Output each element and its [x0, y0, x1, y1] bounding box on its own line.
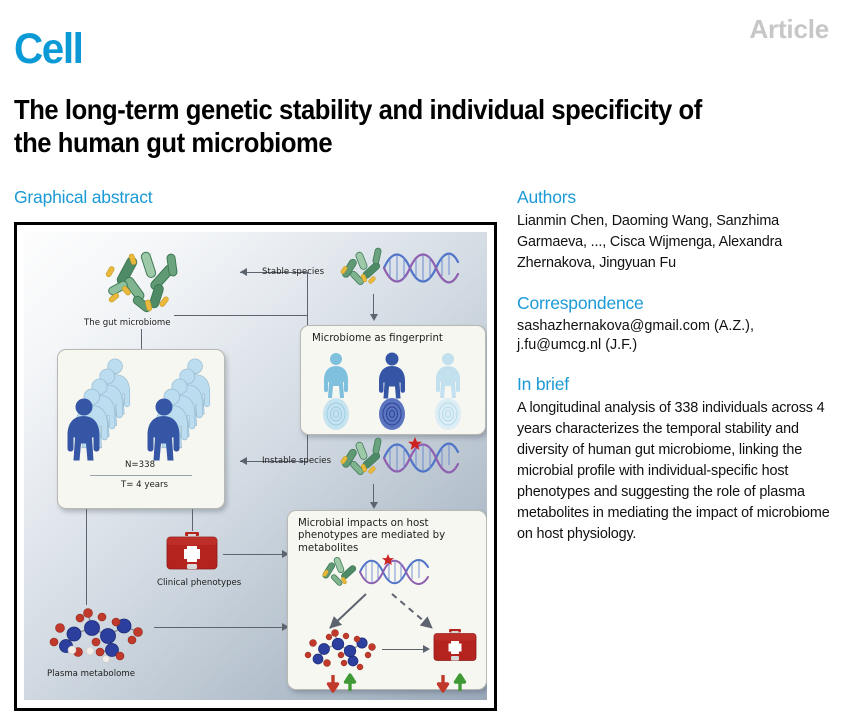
authors-list: Lianmin Chen, Daoming Wang, Sanzhima Gar… [517, 211, 839, 274]
phenotype-change-arrows [434, 674, 474, 698]
connector-instable-to-mediation [373, 484, 374, 504]
fingerprint-light-2 [435, 398, 461, 430]
connector-stable-to-fingerprint [373, 294, 374, 316]
person-light-1 [324, 353, 348, 398]
connector-cohort-down-left [86, 509, 87, 605]
connector-metabolome-to-mediation [154, 627, 285, 628]
plasma-metabolome-molecule-icon [44, 604, 156, 666]
gut-microbiome-label: The gut microbiome [84, 318, 171, 328]
connector-phenotypes-to-mediation [223, 554, 285, 555]
connector-microbiome-to-cohort [141, 329, 142, 349]
plasma-metabolome-label: Plasma metabolome [47, 669, 135, 679]
fingerprints-group [314, 396, 474, 432]
graphical-abstract-heading: Graphical abstract [14, 187, 152, 208]
correspondence-email-2: j.fu@umcg.nl (J.F.) [517, 336, 839, 355]
connector-microbiome-right [174, 315, 308, 316]
correspondence-email-1: sashazhernakova@gmail.com (A.Z.), [517, 317, 839, 336]
mediation-medkit-icon [432, 628, 478, 668]
cohort-group-right [148, 359, 210, 461]
fingerprint-card-title: Microbiome as fingerprint [312, 333, 482, 345]
arrow-to-instable-icon [240, 457, 247, 465]
stable-species-bacteria-dna-icon [340, 242, 460, 294]
article-type-label: Article [749, 14, 829, 45]
cohort-size-label: N=338 [125, 460, 155, 470]
connector-molecule-to-medkit [382, 649, 426, 650]
metabolite-change-arrows [324, 674, 364, 698]
fingerprint-dark-center [379, 398, 405, 430]
cohort-duration-label: T= 4 years [121, 480, 168, 490]
cohort-people-group [66, 354, 218, 474]
stable-species-label: Stable species [262, 267, 324, 277]
gut-microbiome-bacteria-icon [100, 248, 210, 320]
graphical-abstract-canvas: The gut microbiome Stable species Instab… [24, 232, 487, 700]
fingerprint-light-1 [323, 398, 349, 430]
cohort-divider [90, 475, 192, 476]
paper-cover-page: Article Cell The long-term genetic stabi… [0, 0, 847, 716]
arrow-to-stable-icon [240, 268, 247, 276]
arrow-down-fingerprint-icon [370, 314, 378, 321]
journal-logo: Cell [14, 28, 83, 71]
right-column: Authors Lianmin Chen, Daoming Wang, Sanz… [517, 187, 839, 545]
instable-species-bacteria-dna-icon [340, 432, 460, 484]
person-light-2 [436, 353, 460, 398]
mediation-dna-icon [324, 550, 444, 594]
cohort-group-left [68, 359, 130, 461]
arrow-down-mediation-icon [370, 502, 378, 509]
graphical-abstract-figure: The gut microbiome Stable species Instab… [14, 222, 497, 711]
in-brief-text: A longitudinal analysis of 338 individua… [517, 398, 839, 545]
instable-species-label: Instable species [262, 456, 331, 466]
mediation-molecule-icon [302, 627, 382, 673]
page-title: The long-term genetic stability and indi… [14, 94, 702, 159]
arrow-molecule-medkit-icon [423, 645, 430, 653]
correspondence-heading: Correspondence [517, 293, 839, 314]
person-dark-center [379, 353, 405, 399]
clinical-phenotypes-medkit-icon [164, 531, 220, 575]
connector-cohort-down-right [192, 509, 193, 531]
authors-heading: Authors [517, 187, 839, 208]
in-brief-heading: In brief [517, 374, 839, 395]
clinical-phenotypes-label: Clinical phenotypes [157, 578, 241, 588]
